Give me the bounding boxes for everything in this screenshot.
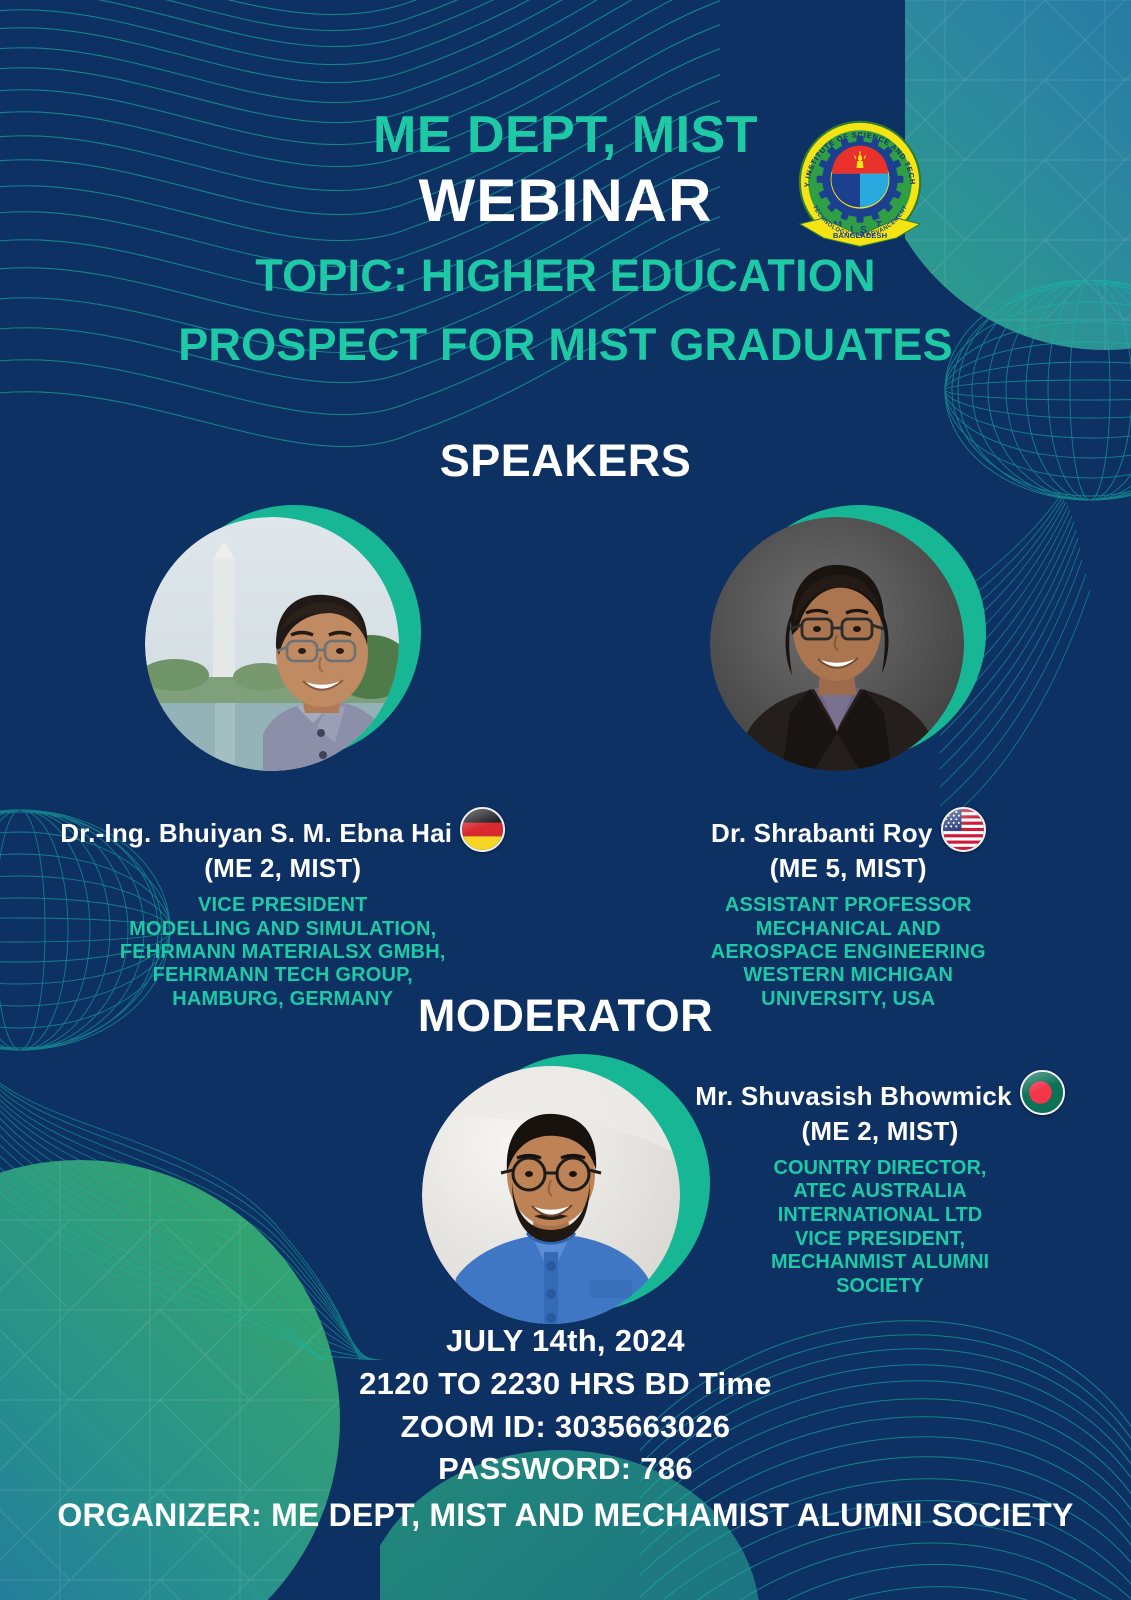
affil-line: WESTERN MICHIGAN — [566, 964, 1131, 987]
poster-header: ME DEPT, MIST WEBINAR TOPIC: HIGHER EDUC… — [0, 0, 1131, 377]
affil-line: FEHRMANN MATERIALSX GMBH, — [0, 941, 566, 964]
speaker-2-name: Dr. Shrabanti Roy — [711, 818, 933, 848]
topic-line-1: TOPIC: HIGHER EDUCATION — [0, 244, 1131, 308]
organizer-line: ORGANIZER: ME DEPT, MIST AND MECHAMIST A… — [0, 1497, 1131, 1534]
speaker-1-name: Dr.-Ing. Bhuiyan S. M. Ebna Hai — [60, 818, 452, 848]
speaker-2-photo — [710, 517, 964, 771]
affil-line: COUNTRY DIRECTOR, — [660, 1157, 1100, 1181]
moderator-name-line: Mr. Shuvasish Bhowmick — [660, 1070, 1100, 1115]
speakers-heading: SPEAKERS — [0, 435, 1131, 487]
speaker-1-photo — [145, 517, 399, 771]
topic-line-2: PROSPECT FOR MIST GRADUATES — [0, 313, 1131, 377]
event-time: 2120 TO 2230 HRS BD Time — [0, 1363, 1131, 1406]
webinar-title: WEBINAR — [0, 163, 1131, 238]
affil-line: SOCIETY — [660, 1275, 1100, 1299]
affil-line: VICE PRESIDENT, — [660, 1228, 1100, 1252]
moderator-affiliation: COUNTRY DIRECTOR, ATEC AUSTRALIA INTERNA… — [660, 1157, 1100, 1299]
zoom-password: PASSWORD: 786 — [0, 1448, 1131, 1491]
speaker-1-batch: (ME 2, MIST) — [0, 852, 566, 885]
speaker-1-name-line: Dr.-Ing. Bhuiyan S. M. Ebna Hai — [0, 807, 566, 852]
event-date: JULY 14th, 2024 — [0, 1320, 1131, 1363]
speaker-1-photo-wrap — [145, 505, 421, 781]
moderator-photo — [422, 1066, 680, 1324]
affil-line: VICE PRESIDENT — [0, 894, 566, 917]
affil-line: AEROSPACE ENGINEERING — [566, 941, 1131, 964]
speaker-2-name-line: Dr. Shrabanti Roy — [566, 807, 1131, 852]
affil-line: MODELLING AND SIMULATION, — [0, 918, 566, 941]
moderator-heading: MODERATOR — [0, 990, 1131, 1042]
speaker-2-photo-wrap — [710, 505, 986, 781]
germany-flag-icon — [460, 807, 505, 852]
event-details: JULY 14th, 2024 2120 TO 2230 HRS BD Time… — [0, 1320, 1131, 1534]
affil-line: MECHANMIST ALUMNI — [660, 1251, 1100, 1275]
affil-line: INTERNATIONAL LTD — [660, 1204, 1100, 1228]
speakers-row: Dr.-Ing. Bhuiyan S. M. Ebna Hai (ME 2, M… — [0, 505, 1131, 781]
zoom-id: ZOOM ID: 3035663026 — [0, 1406, 1131, 1449]
department-title: ME DEPT, MIST — [0, 108, 1131, 163]
bangladesh-flag-icon — [1020, 1070, 1065, 1115]
moderator-text: Mr. Shuvasish Bhowmick (ME 2, MIST) COUN… — [660, 1070, 1100, 1298]
mist-seal-logo: MILITARY INSTITUTE OF SCIENCE AND TECHNO… — [790, 112, 930, 252]
affil-line: FEHRMANN TECH GROUP, — [0, 964, 566, 987]
affil-line: MECHANICAL AND — [566, 918, 1131, 941]
affil-line: ATEC AUSTRALIA — [660, 1180, 1100, 1204]
speaker-2-batch: (ME 5, MIST) — [566, 852, 1131, 885]
usa-flag-icon — [941, 807, 986, 852]
speaker-card-2: Dr. Shrabanti Roy (ME 5, MIST) ASSISTANT… — [566, 505, 1131, 781]
speaker-card-1: Dr.-Ing. Bhuiyan S. M. Ebna Hai (ME 2, M… — [0, 505, 566, 781]
moderator-batch: (ME 2, MIST) — [660, 1115, 1100, 1149]
affil-line: ASSISTANT PROFESSOR — [566, 894, 1131, 917]
moderator-name: Mr. Shuvasish Bhowmick — [695, 1081, 1012, 1111]
